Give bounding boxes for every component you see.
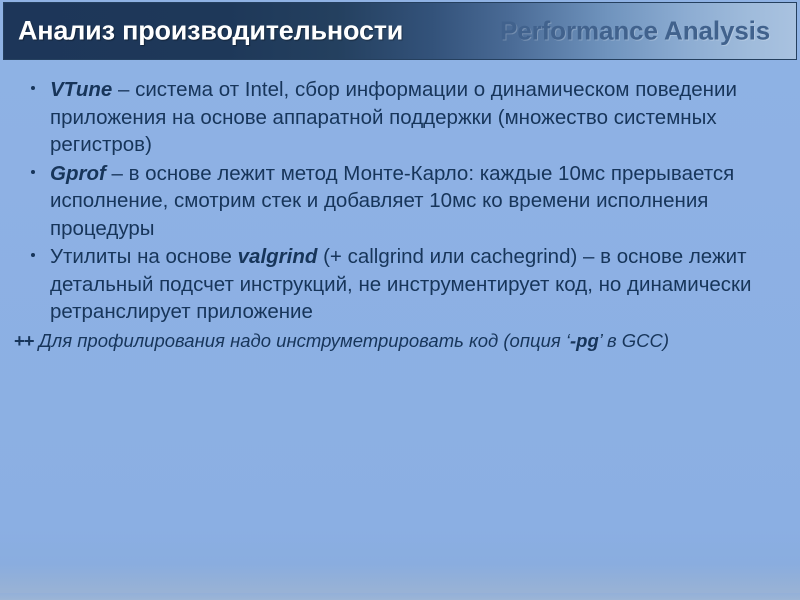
bullet-dot-icon (31, 170, 35, 174)
footnote-marker: ++ (14, 330, 34, 351)
page-title-en: Performance Analysis (500, 16, 770, 47)
bullet-lead-term: valgrind (238, 245, 318, 268)
page-title-ru: Анализ производительности (18, 16, 403, 47)
bullet-body-text: – в основе лежит метод Монте-Карло: кажд… (50, 162, 734, 240)
list-item: Утилиты на основе valgrind (+ callgrind … (0, 243, 800, 326)
footnote-emphasis-flag: -pg (570, 330, 599, 351)
footnote-text-before: Для профилирования надо инструметрироват… (34, 330, 570, 351)
bullet-lead-term: VTune (50, 78, 112, 101)
bullet-lead-term: Gprof (50, 162, 106, 185)
list-item: VTune – система от Intel, сбор информаци… (0, 76, 800, 159)
bullet-prefix-text: Утилиты на основе (50, 245, 238, 268)
footnote-text-after: ’ в GCC) (599, 330, 669, 351)
footer-strip (0, 593, 800, 600)
footnote: ++ Для профилирования надо инструметриро… (0, 328, 800, 353)
list-item: Gprof – в основе лежит метод Монте-Карло… (0, 160, 800, 243)
title-bar-inner: Анализ производительности Performance An… (4, 3, 796, 59)
bullet-dot-icon (31, 253, 35, 257)
bullet-body-text: – система от Intel, сбор информации о ди… (50, 78, 737, 156)
bullet-list: VTune – система от Intel, сбор информаци… (0, 76, 800, 326)
slide: Анализ производительности Performance An… (0, 0, 800, 600)
slide-title-bar: Анализ производительности Performance An… (3, 2, 797, 60)
bullet-dot-icon (31, 86, 35, 90)
slide-content: VTune – система от Intel, сбор информаци… (0, 76, 800, 353)
